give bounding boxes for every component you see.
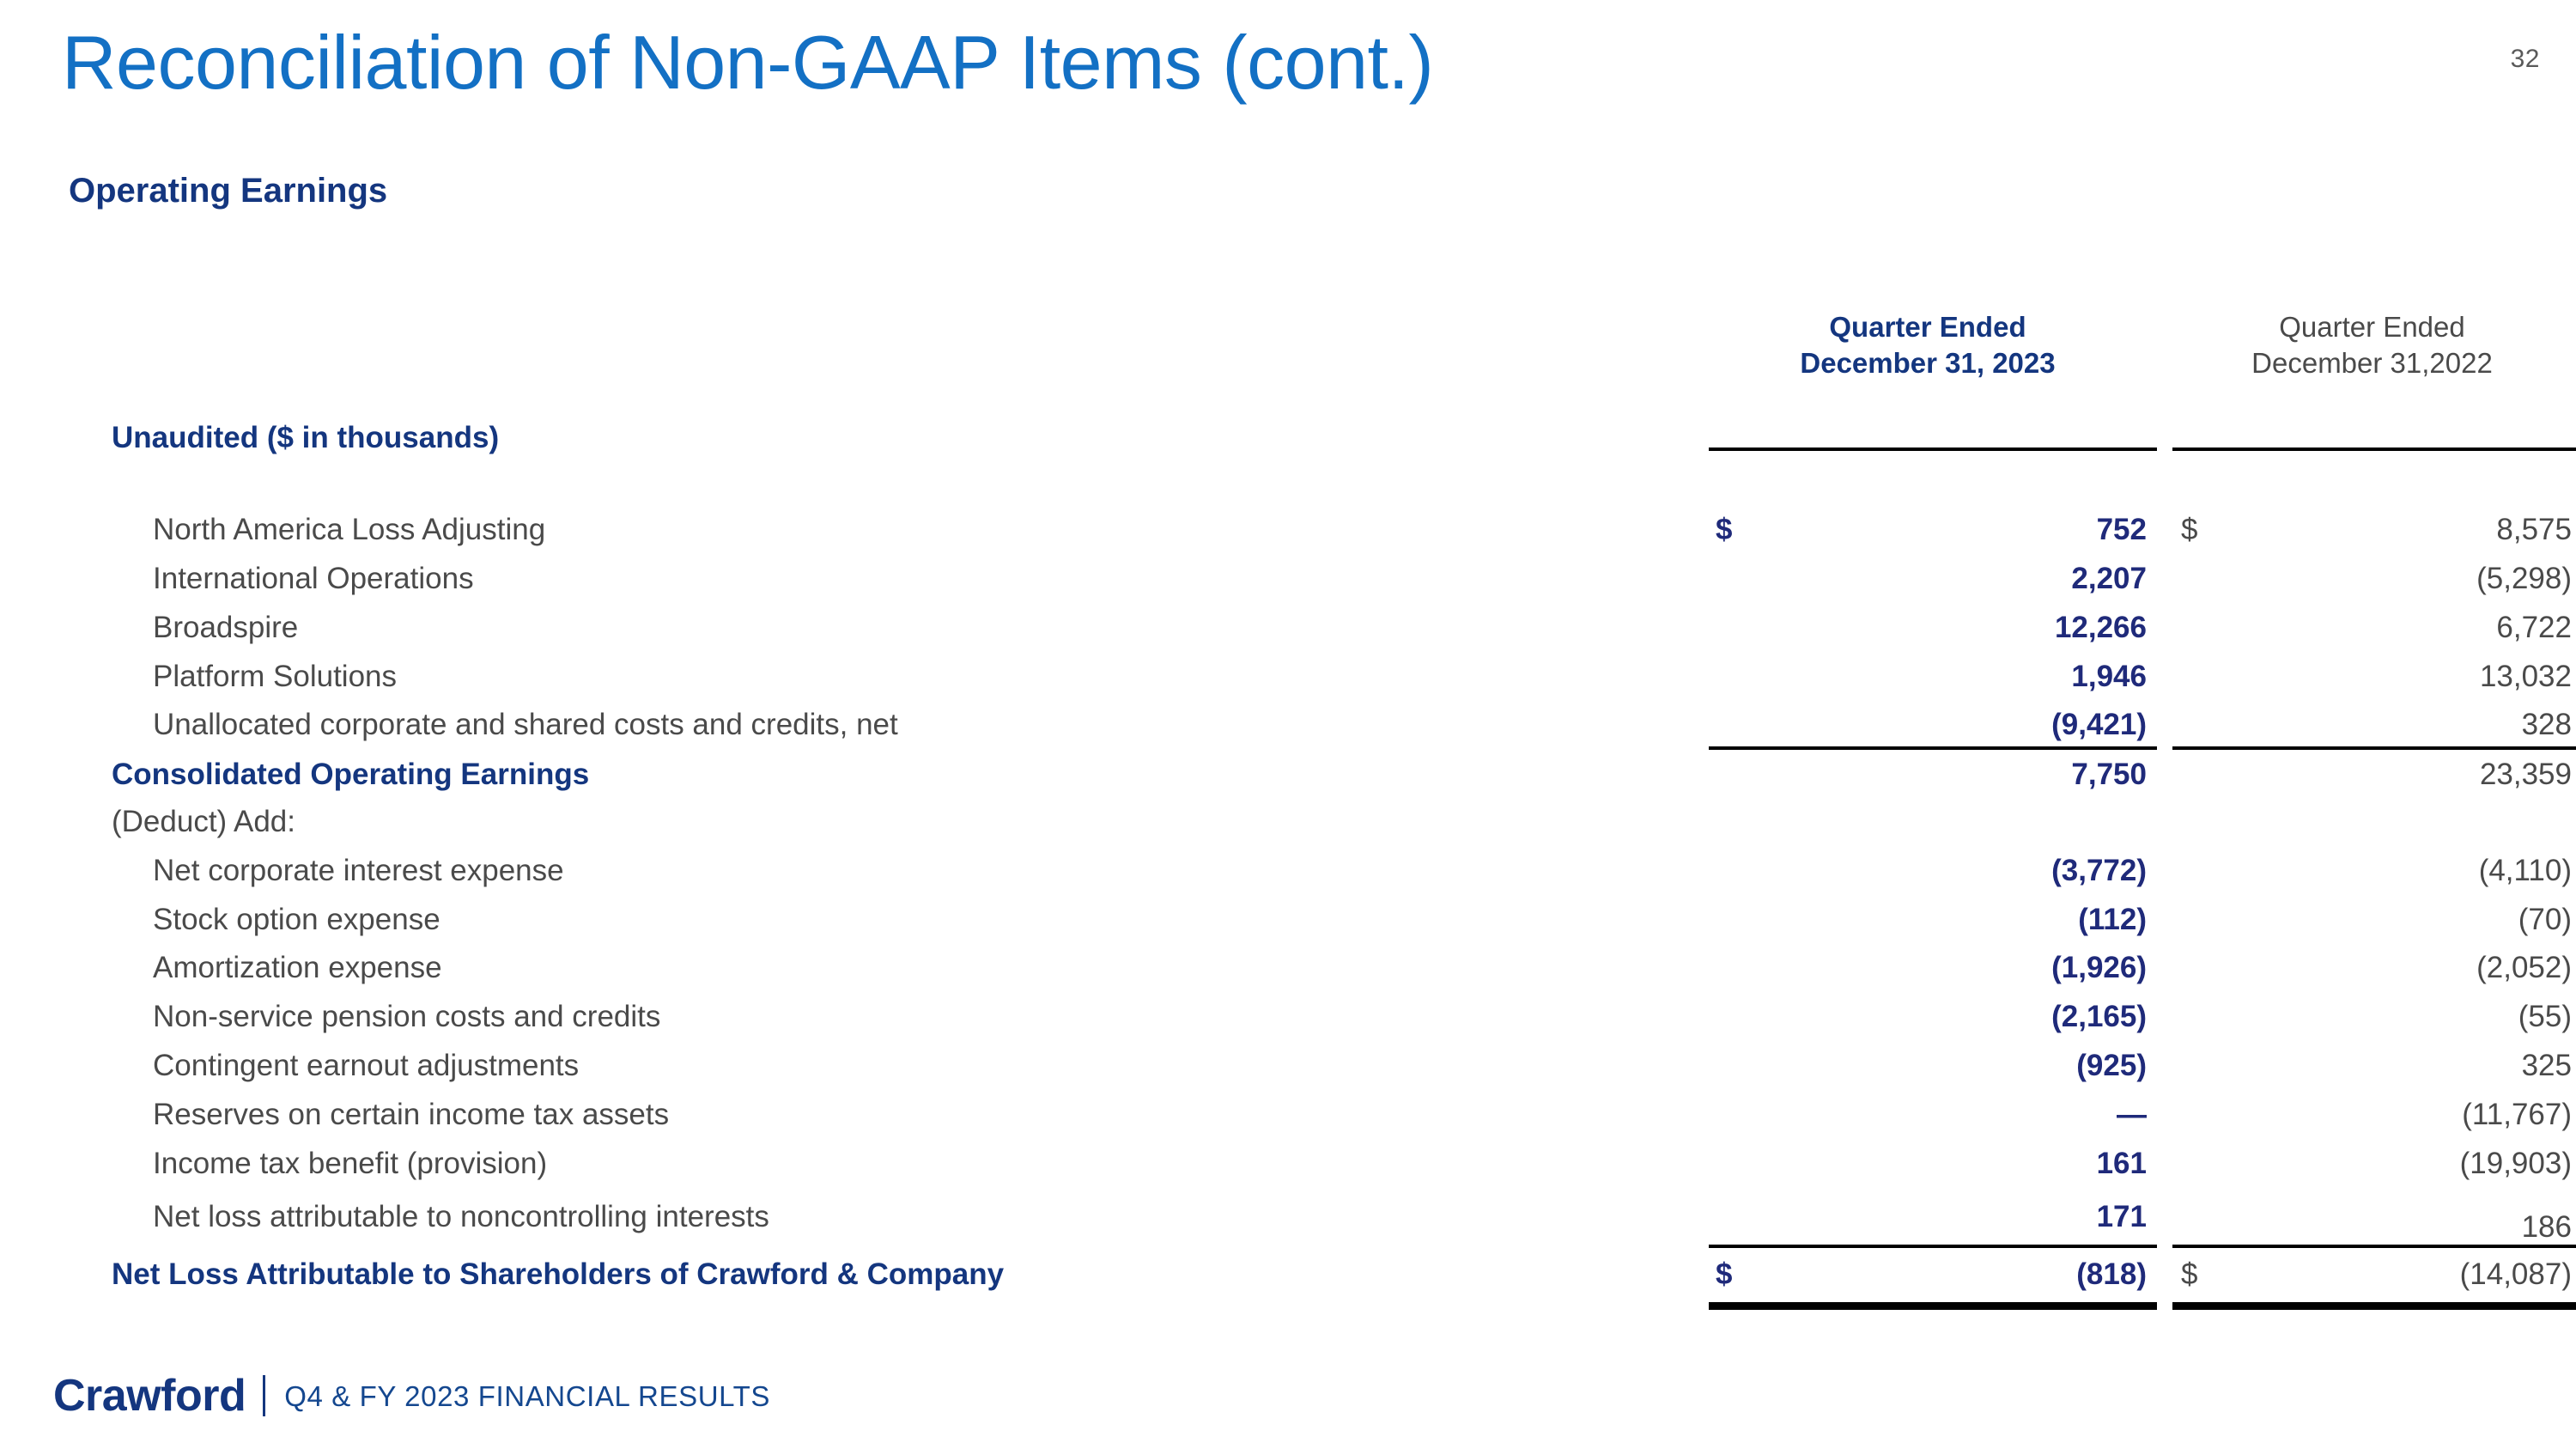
row-value-2022: 325: [2172, 1047, 2576, 1085]
row-value-2022: (4,110): [2172, 852, 2576, 890]
row-value-2022: 6,722: [2172, 609, 2576, 647]
row-value-2023: 161: [1709, 1145, 2157, 1183]
row-value-2023: (925): [1709, 1047, 2157, 1085]
row-label: Broadspire: [153, 609, 298, 647]
row-value-2023: (3,772): [1709, 852, 2157, 890]
row-label: Amortization expense: [153, 949, 442, 987]
row-value-2022: (2,052): [2172, 949, 2576, 987]
row-value-2023: (9,421): [1709, 706, 2157, 744]
table-row: Income tax benefit (provision) 161 (19,9…: [0, 1145, 2576, 1193]
row-value-2023: (2,165): [1709, 998, 2157, 1036]
row-value-2022: 13,032: [2172, 658, 2576, 696]
table-row: International Operations 2,207 (5,298): [0, 560, 2576, 608]
total-rule-bottom-col1: [1709, 1302, 2157, 1310]
table-row: Broadspire 12,266 6,722: [0, 609, 2576, 657]
row-label: Net corporate interest expense: [153, 852, 564, 890]
footer: Crawford Q4 & FY 2023 FINANCIAL RESULTS: [53, 1373, 770, 1418]
row-value-2022: 8,575: [2172, 511, 2576, 549]
subtotal-rule-col1: [1709, 746, 2157, 750]
row-label: International Operations: [153, 560, 474, 598]
table-row: Contingent earnout adjustments (925) 325: [0, 1047, 2576, 1095]
section-label: (Deduct) Add:: [112, 803, 295, 841]
row-value-2023: —: [1709, 1096, 2157, 1134]
table-row: Net loss attributable to noncontrolling …: [0, 1198, 2576, 1246]
table-total-row: Net Loss Attributable to Shareholders of…: [0, 1256, 2576, 1304]
row-value-2023: (1,926): [1709, 949, 2157, 987]
reconciliation-table: Quarter Ended December 31, 2023 Quarter …: [0, 0, 2576, 1449]
row-label: Net loss attributable to noncontrolling …: [153, 1198, 769, 1236]
table-row: Stock option expense (112) (70): [0, 901, 2576, 949]
subtotal-value-2023: 7,750: [1709, 756, 2157, 794]
unit-label: Unaudited ($ in thousands): [112, 419, 499, 457]
row-value-2022: (5,298): [2172, 560, 2576, 598]
table-row: Net corporate interest expense (3,772) (…: [0, 852, 2576, 900]
row-label: Unallocated corporate and shared costs a…: [153, 706, 898, 744]
column-header-2023-line1: Quarter Ended: [1709, 309, 2147, 345]
row-value-2023: 752: [1709, 511, 2157, 549]
row-label: North America Loss Adjusting: [153, 511, 545, 549]
total-rule-bottom-col2: [2172, 1302, 2576, 1310]
row-label: Contingent earnout adjustments: [153, 1047, 579, 1085]
row-value-2023: (112): [1709, 901, 2157, 939]
column-header-2022: Quarter Ended December 31,2022: [2172, 309, 2572, 381]
subtotal-rule-col2: [2172, 746, 2576, 750]
total-label: Net Loss Attributable to Shareholders of…: [112, 1256, 1004, 1294]
row-value-2022: (11,767): [2172, 1096, 2576, 1134]
row-value-2022: (55): [2172, 998, 2576, 1036]
table-row: Platform Solutions 1,946 13,032: [0, 658, 2576, 706]
total-rule-top-col1: [1709, 1245, 2157, 1248]
row-value-2022: 186: [2172, 1209, 2576, 1246]
row-label: Non-service pension costs and credits: [153, 998, 660, 1036]
row-label: Platform Solutions: [153, 658, 397, 696]
column-header-2023: Quarter Ended December 31, 2023: [1709, 309, 2147, 381]
table-row: Amortization expense (1,926) (2,052): [0, 949, 2576, 997]
row-label: Stock option expense: [153, 901, 440, 939]
table-row: North America Loss Adjusting $ 752 $ 8,5…: [0, 511, 2576, 559]
row-value-2022: 328: [2172, 706, 2576, 744]
total-value-2023: (818): [1709, 1256, 2157, 1294]
subtotal-label: Consolidated Operating Earnings: [112, 756, 589, 794]
section-label-row: (Deduct) Add:: [0, 803, 2576, 851]
row-value-2023: 171: [1709, 1198, 2157, 1236]
row-value-2023: 1,946: [1709, 658, 2157, 696]
table-subtotal-row: Consolidated Operating Earnings 7,750 23…: [0, 756, 2576, 804]
total-rule-top-col2: [2172, 1245, 2576, 1248]
row-label: Income tax benefit (provision): [153, 1145, 547, 1183]
subtotal-value-2022: 23,359: [2172, 756, 2576, 794]
table-row: Reserves on certain income tax assets — …: [0, 1096, 2576, 1144]
brand-logo: Crawford: [53, 1373, 246, 1418]
brand-divider: [263, 1375, 265, 1416]
total-value-2022: (14,087): [2172, 1256, 2576, 1294]
column-header-2022-line2: December 31,2022: [2172, 345, 2572, 381]
row-label: Reserves on certain income tax assets: [153, 1096, 669, 1134]
footer-text: Q4 & FY 2023 FINANCIAL RESULTS: [284, 1382, 770, 1410]
row-value-2022: (70): [2172, 901, 2576, 939]
column-header-2022-line1: Quarter Ended: [2172, 309, 2572, 345]
row-value-2023: 2,207: [1709, 560, 2157, 598]
row-value-2022: (19,903): [2172, 1145, 2576, 1183]
table-row: Non-service pension costs and credits (2…: [0, 998, 2576, 1046]
column-header-2023-line2: December 31, 2023: [1709, 345, 2147, 381]
row-value-2023: 12,266: [1709, 609, 2157, 647]
unit-label-row: Unaudited ($ in thousands): [0, 419, 2576, 467]
